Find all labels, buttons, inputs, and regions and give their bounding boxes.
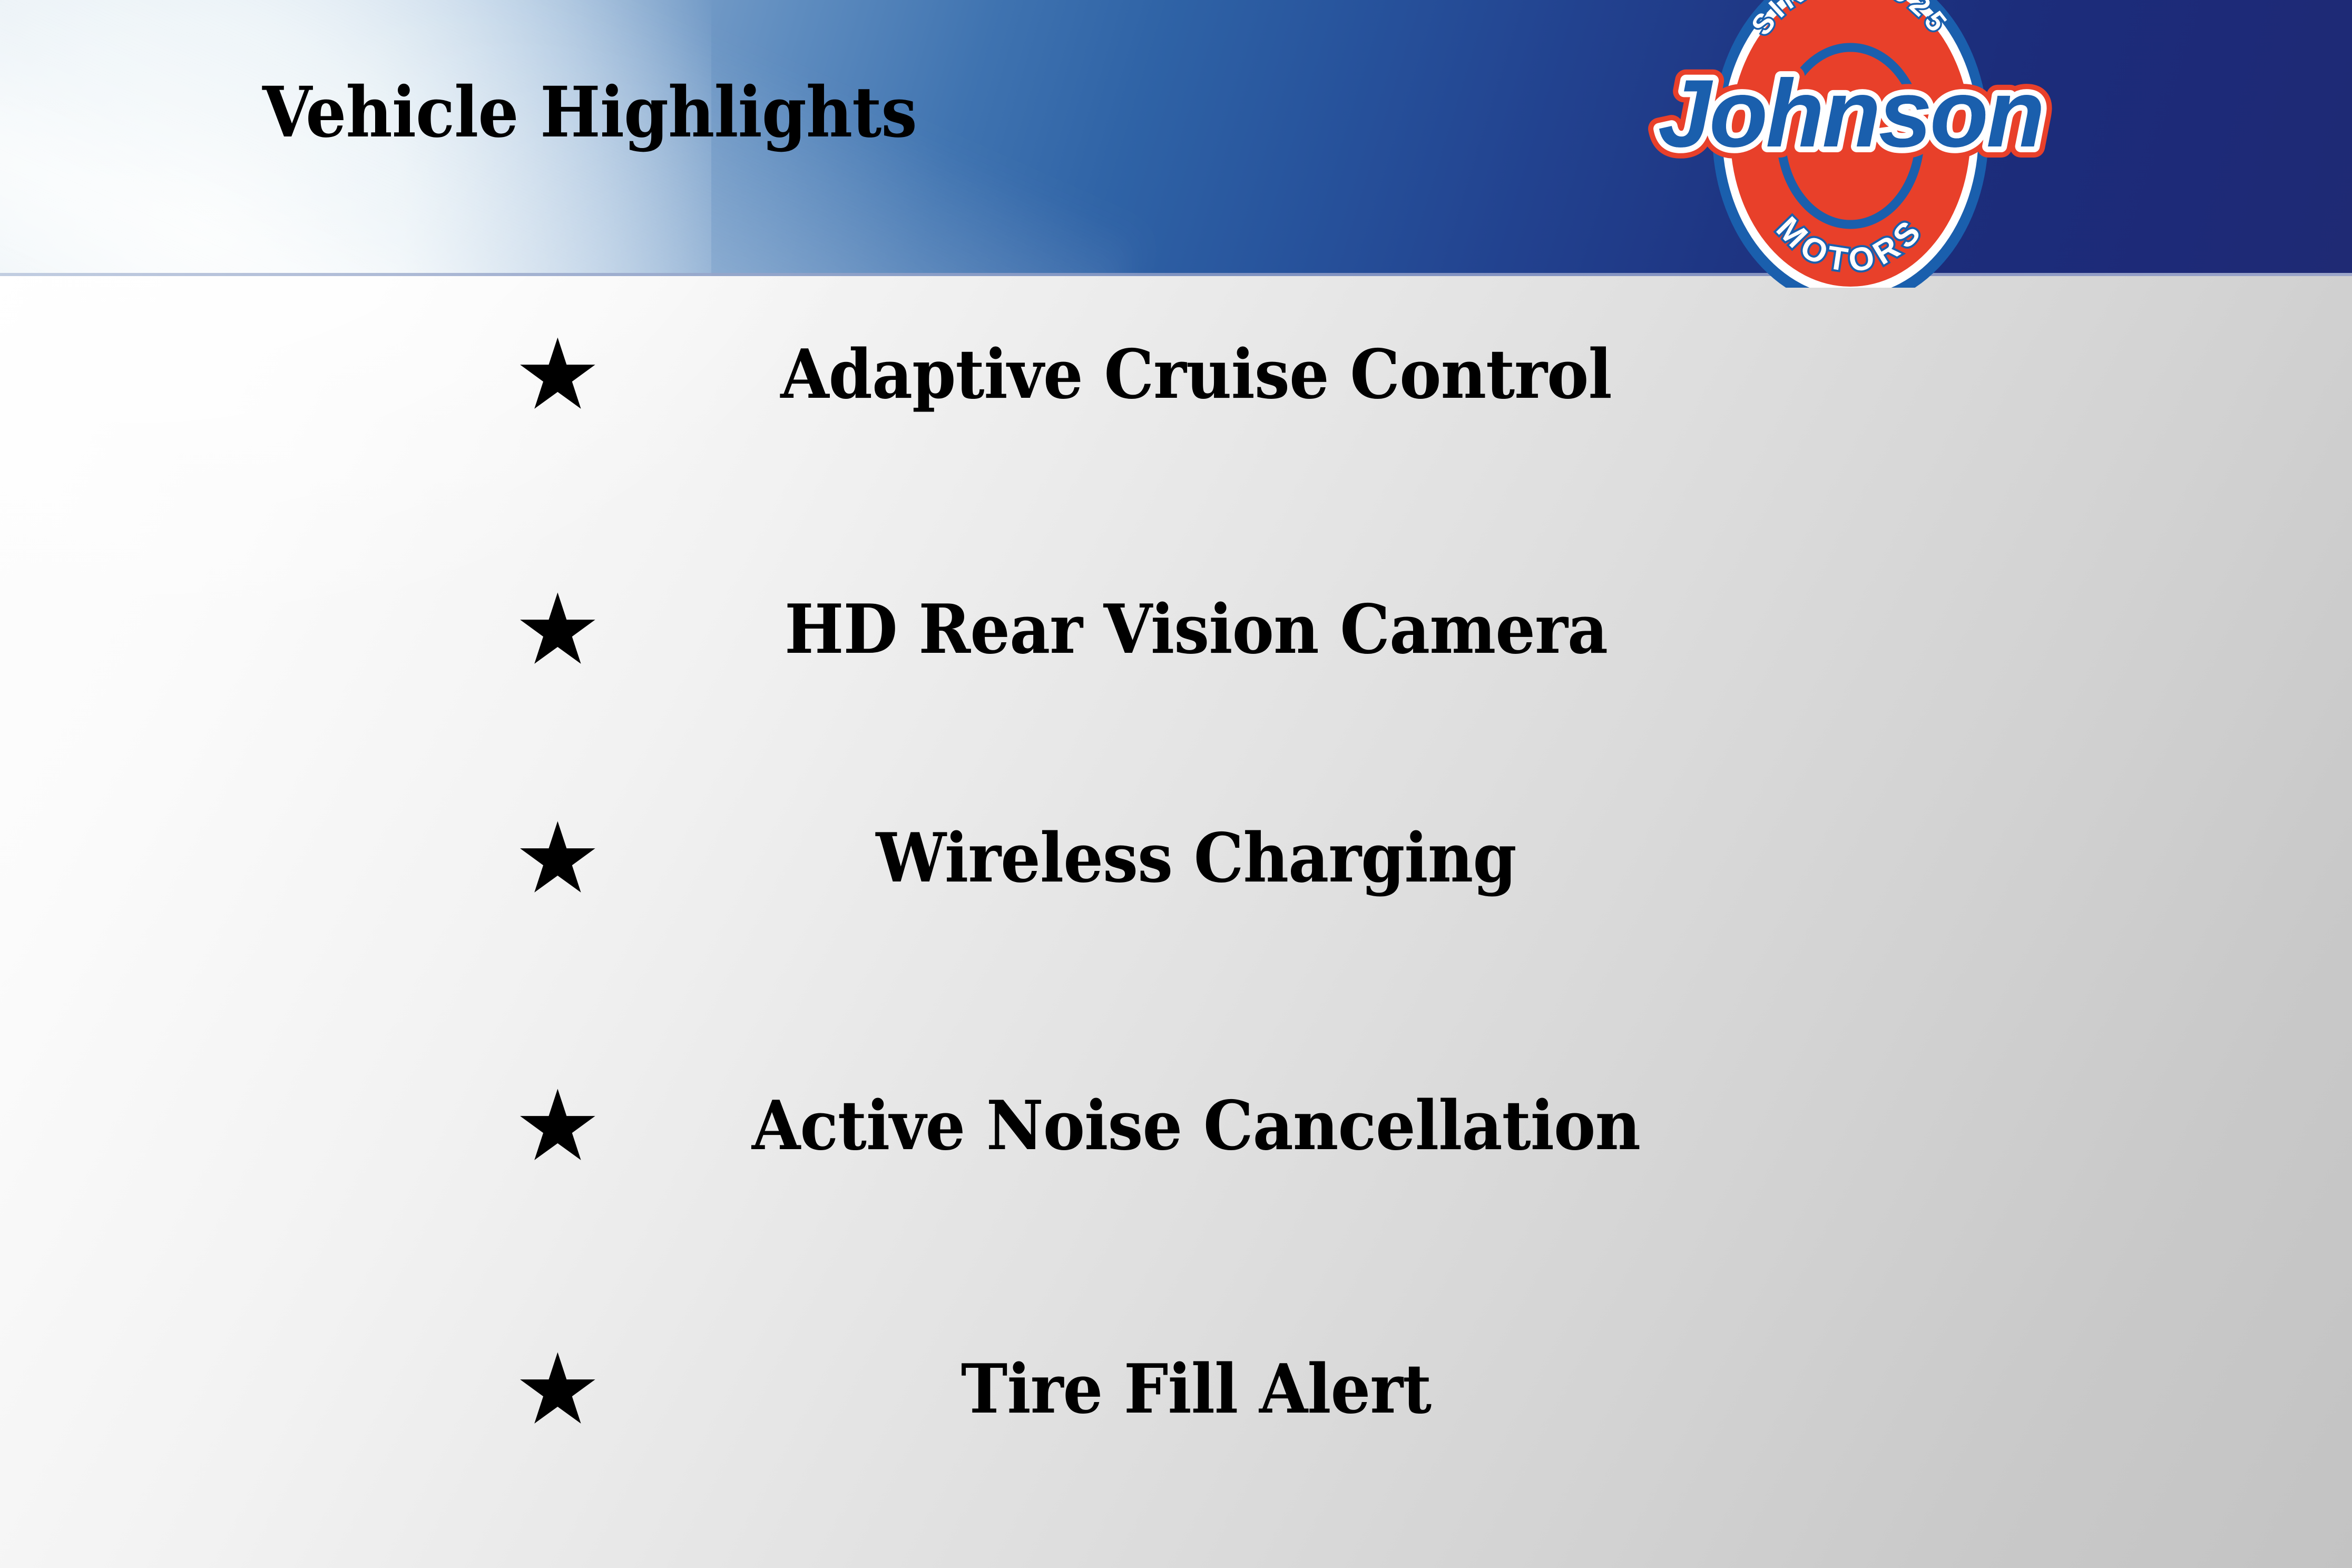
page-title: Vehicle Highlights (262, 78, 917, 148)
list-item: ★ HD Rear Vision Camera (0, 585, 2352, 674)
svg-text:Johnson: Johnson (1658, 60, 2043, 167)
list-item: ★ Wireless Charging (0, 814, 2352, 903)
star-icon: ★ (514, 1081, 598, 1171)
slide-root: Vehicle Highlights SINCE 1925 MOTORS (0, 0, 2352, 1568)
list-item: ★ Active Noise Cancellation (0, 1081, 2352, 1171)
logo-wordmark: Johnson Johnson Johnson (1658, 60, 2043, 167)
star-icon: ★ (514, 330, 598, 419)
highlight-label: HD Rear Vision Camera (662, 585, 1730, 674)
johnson-motors-logo: SINCE 1925 MOTORS Johnson Johnson Johnso… (1645, 0, 2056, 288)
highlight-label: Wireless Charging (662, 814, 1730, 903)
star-icon: ★ (514, 1345, 598, 1434)
highlight-label: Adaptive Cruise Control (662, 330, 1730, 419)
star-icon: ★ (514, 814, 598, 903)
star-icon: ★ (514, 585, 598, 674)
list-item: ★ Tire Fill Alert (0, 1345, 2352, 1434)
highlight-label: Active Noise Cancellation (662, 1081, 1730, 1171)
highlight-label: Tire Fill Alert (662, 1345, 1730, 1434)
highlights-list: ★ Adaptive Cruise Control ★ HD Rear Visi… (0, 276, 2352, 1568)
list-item: ★ Adaptive Cruise Control (0, 330, 2352, 419)
